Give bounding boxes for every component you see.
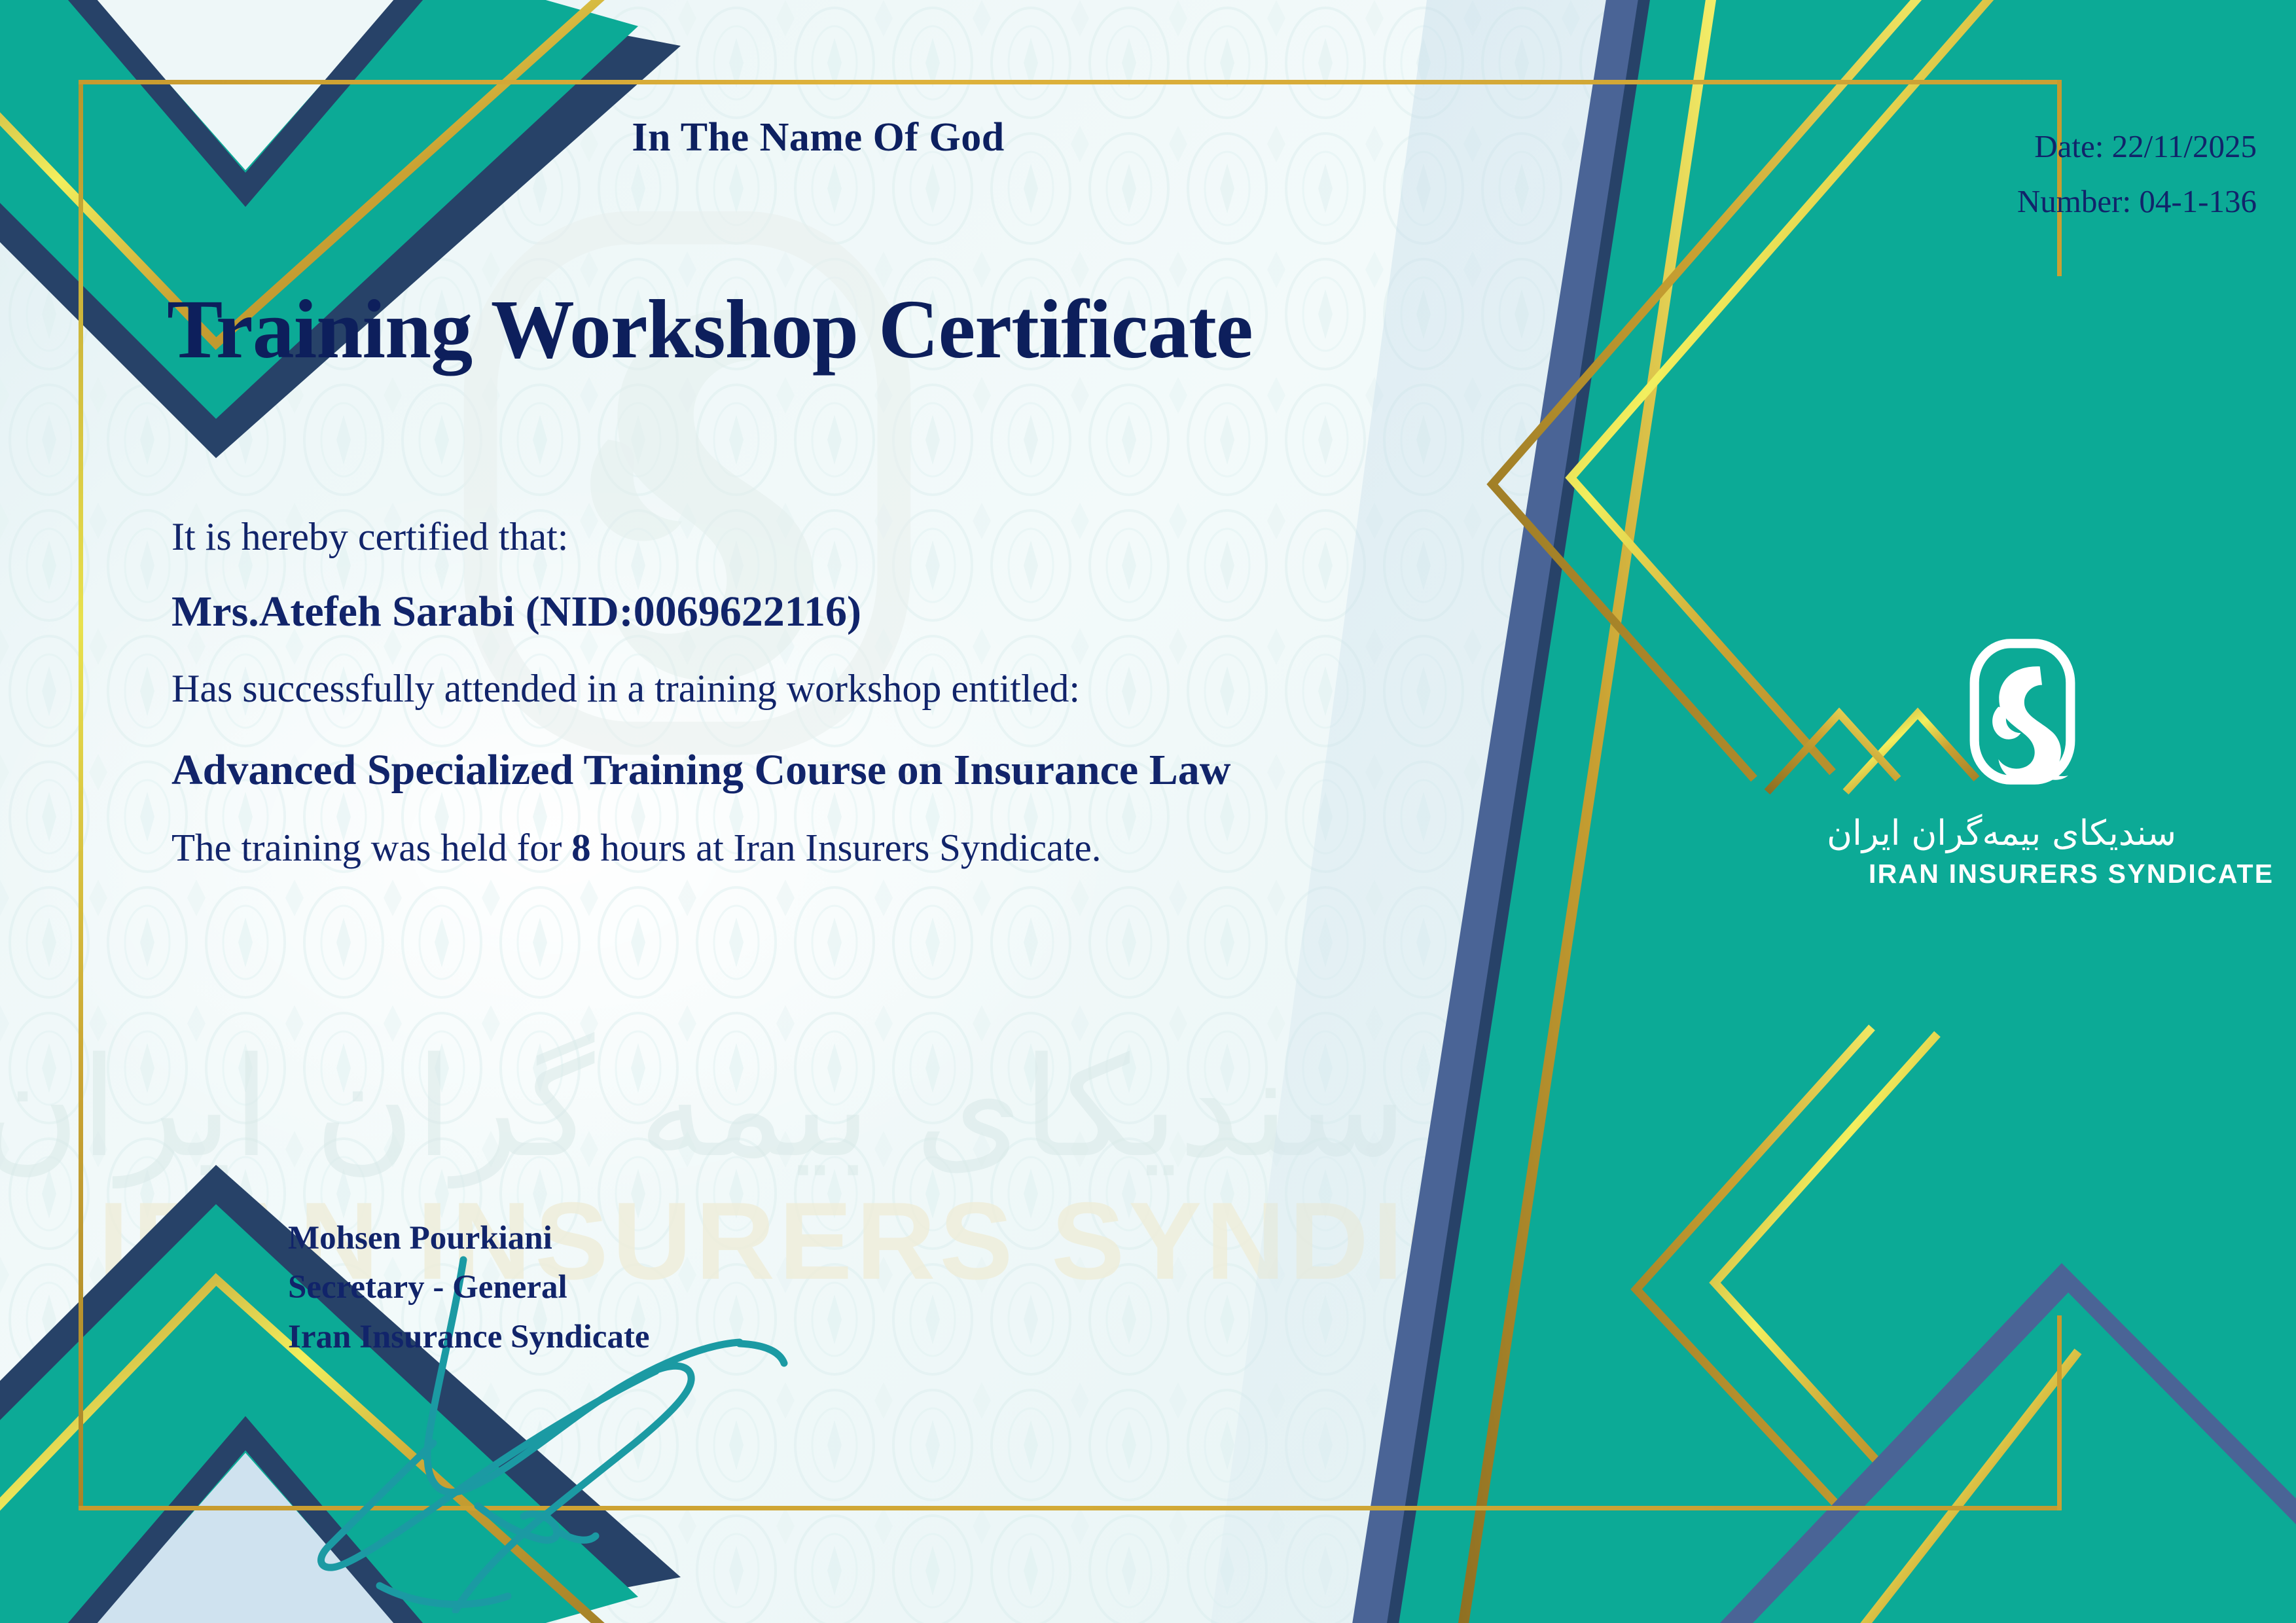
logo-persian-name: سندیکای بیمه‌گران ایران [1869,813,2176,853]
certificate-meta: Date: 22/11/2025 Number: 04-1-136 [2017,119,2257,230]
certificate-page: سندیکای بیمه گران ایران IRAN INSURERS SY… [0,0,2296,1623]
duration-suffix: hours at Iran Insurers Syndicate. [591,826,1102,869]
signatory-organization: Iran Insurance Syndicate [288,1313,650,1362]
duration-line: The training was held for 8 hours at Ira… [171,829,1474,867]
attended-line: Has successfully attended in a training … [171,669,1474,708]
duration-hours: 8 [571,826,591,869]
duration-prefix: The training was held for [171,826,571,869]
frame-top-rule [79,80,2062,84]
signatory-name: Mohsen Pourkiani [288,1214,650,1263]
signature-block: Mohsen Pourkiani Secretary - General Ira… [288,1214,650,1362]
certified-line: It is hereby certified that: [171,517,1474,556]
invocation-heading: In The Name Of God [524,115,1113,161]
issue-number: Number: 04-1-136 [2017,174,2257,229]
recipient-name: Mrs.Atefeh Sarabi (NID:0069622116) [171,590,1474,633]
signatory-role: Secretary - General [288,1263,650,1312]
issue-date: Date: 22/11/2025 [2017,119,2257,174]
logo-english-name: IRAN INSURERS SYNDICATE [1869,859,2176,889]
syndicate-logo-icon [1924,638,2121,802]
course-title: Advanced Specialized Training Course on … [171,738,1454,802]
certificate-body: It is hereby certified that: Mrs.Atefeh … [171,517,1474,867]
frame-right-rule-bottom [2057,1315,2062,1510]
organization-logo: سندیکای بیمه‌گران ایران IRAN INSURERS SY… [1869,638,2176,889]
frame-left-rule [79,80,83,1510]
page-title: Training Workshop Certificate [167,281,1253,378]
